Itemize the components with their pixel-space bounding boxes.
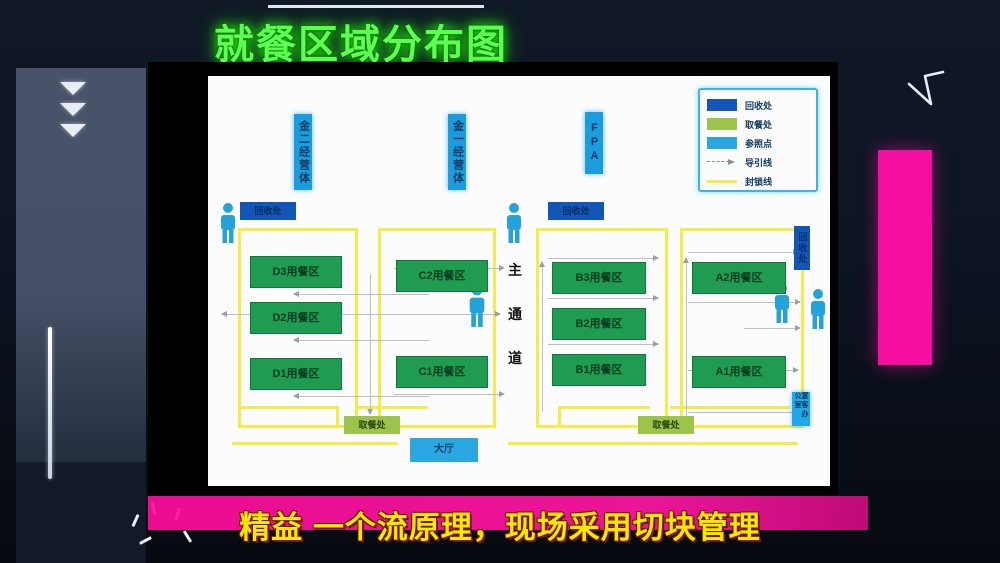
blockade-line [378, 228, 381, 428]
main-aisle-char: 道 [504, 336, 526, 380]
person-marker-icon [504, 202, 524, 244]
legend-item: 导引线 [707, 153, 810, 171]
square-swatch-icon [707, 137, 737, 149]
pickup-point-tag: 取餐处 [638, 416, 694, 434]
blockade-line [536, 228, 539, 428]
square-swatch-icon [707, 99, 737, 111]
blockade-line [508, 442, 798, 445]
zone-header-jin1: 金一经营体 [448, 114, 466, 190]
zone-header-fpa: FPA [585, 112, 603, 174]
magenta-stripes-decor [878, 358, 928, 498]
guide-arrow [688, 412, 800, 413]
blockade-line [378, 228, 496, 231]
recycle-point-tag: 回收处 [240, 202, 296, 220]
dining-area-b1: B1用餐区 [552, 354, 646, 386]
legend-label: 回收处 [745, 99, 772, 112]
blockade-line [680, 228, 804, 231]
vertical-line-decor [48, 327, 52, 479]
legend-item: 封锁线 [707, 172, 810, 190]
blockade-line [536, 228, 668, 231]
triangle-stack-decor [60, 82, 92, 145]
person-marker-icon [808, 288, 828, 330]
yellow-line-icon [707, 175, 737, 187]
blockade-line [558, 406, 561, 428]
down-triangle-icon [60, 103, 86, 116]
screen-stage: 就餐区域分布图 金二经营体 金一经营体 FPA 回收处 取餐处 参照点 导引线 [0, 0, 1000, 563]
guide-arrow [294, 340, 429, 341]
magenta-bar-decor [878, 150, 932, 365]
caption-rest: 一个流原理，现场采用切块管理 [313, 510, 761, 545]
dashed-arrow-icon [707, 156, 737, 168]
legend-item: 取餐处 [707, 115, 810, 133]
main-aisle-label: 主 通 道 [504, 248, 526, 380]
office-tag: 宴客办公室 [792, 392, 810, 426]
dining-area-d1: D1用餐区 [250, 358, 342, 390]
dining-area-d2: D2用餐区 [250, 302, 342, 334]
dining-area-c2: C2用餐区 [396, 260, 488, 292]
guide-arrow [744, 328, 800, 329]
guide-arrow [548, 298, 658, 299]
caption-text: 精益 一个流原理，现场采用切块管理 [0, 502, 1000, 547]
legend-label: 参照点 [745, 137, 772, 150]
blockade-line [238, 406, 338, 409]
main-aisle-char: 通 [504, 292, 526, 336]
recycle-point-tag: 回收处 [548, 202, 604, 220]
down-triangle-icon [60, 82, 86, 95]
dining-area-a1: A1用餐区 [692, 356, 786, 388]
blockade-line [665, 228, 668, 426]
person-marker-icon [218, 202, 238, 244]
guide-arrow [294, 294, 429, 295]
dining-area-b3: B3用餐区 [552, 262, 646, 294]
guide-arrow [688, 252, 798, 253]
legend-label: 封锁线 [745, 175, 772, 188]
square-swatch-icon [707, 118, 737, 130]
blockade-line [238, 228, 358, 231]
caption-lead: 精益 [239, 510, 303, 545]
legend-item: 回收处 [707, 96, 810, 114]
blockade-line [493, 228, 496, 426]
main-aisle-char: 主 [504, 248, 526, 292]
blockade-line [558, 406, 650, 409]
legend-label: 取餐处 [745, 118, 772, 131]
corner-arrow-icon [905, 68, 947, 110]
diagram-canvas: 金二经营体 金一经营体 FPA 回收处 取餐处 参照点 导引线 封 [208, 76, 830, 486]
guide-arrow-vertical [370, 274, 371, 414]
blockade-line [670, 406, 790, 409]
blockade-line [232, 442, 398, 445]
down-triangle-icon [60, 124, 86, 137]
guide-arrow-vertical [542, 262, 543, 412]
guide-arrow-vertical [686, 258, 687, 418]
pickup-point-tag: 取餐处 [344, 416, 400, 434]
dining-area-d3: D3用餐区 [250, 256, 342, 288]
blockade-line [680, 425, 804, 428]
guide-arrow [394, 394, 504, 395]
blockade-line [238, 425, 358, 428]
blockade-line [238, 228, 241, 428]
zone-header-jin2: 金二经营体 [294, 114, 312, 190]
guide-arrow [548, 344, 658, 345]
gray-stripes-decor [928, 358, 1000, 498]
guide-arrow [548, 258, 658, 259]
legend-item: 参照点 [707, 134, 810, 152]
hall-tag: 大厅 [410, 438, 478, 462]
guide-arrow [294, 396, 429, 397]
headline-underline [268, 5, 484, 8]
legend-panel: 回收处 取餐处 参照点 导引线 封锁线 [698, 88, 818, 192]
legend-label: 导引线 [745, 156, 772, 169]
dining-area-b2: B2用餐区 [552, 308, 646, 340]
recycle-point-tag-vertical: 回收处 [794, 226, 810, 270]
dining-area-a2: A2用餐区 [692, 262, 786, 294]
dining-area-c1: C1用餐区 [396, 356, 488, 388]
blockade-line [336, 406, 339, 428]
